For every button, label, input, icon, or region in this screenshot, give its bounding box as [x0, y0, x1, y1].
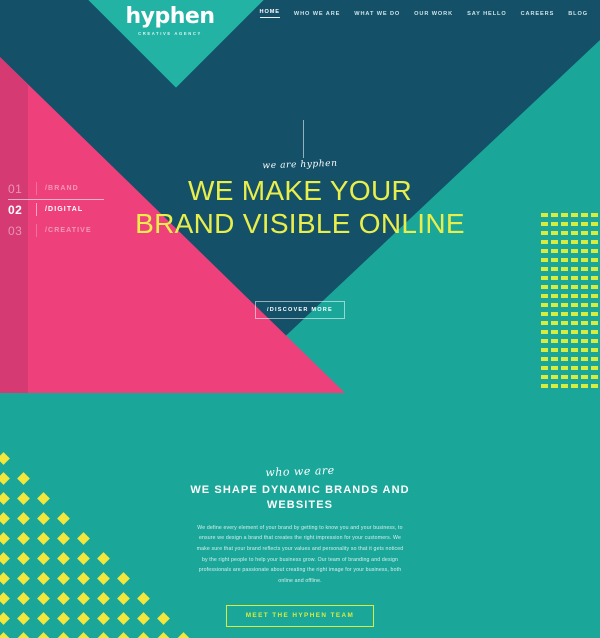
dash-cell [551, 366, 558, 370]
dash-cell [551, 357, 558, 361]
dash-cell [551, 240, 558, 244]
dash-cell [571, 321, 578, 325]
dash-cell [541, 357, 548, 361]
dash-cell [541, 384, 548, 388]
dash-cell [541, 375, 548, 379]
slide-active-rule [8, 199, 104, 200]
dash-cell [571, 303, 578, 307]
slide-label: /CREATIVE [45, 227, 92, 234]
dash-cell [561, 267, 568, 271]
dash-cell [561, 366, 568, 370]
nav-item-who-we-are[interactable]: WHO WE ARE [294, 11, 340, 17]
dash-cell [581, 285, 588, 289]
dash-cell [571, 294, 578, 298]
diamond-cell [177, 632, 190, 638]
dash-cell [561, 303, 568, 307]
dash-cell [581, 312, 588, 316]
dash-cell [541, 258, 548, 262]
about-body-text: We define every element of your brand by… [194, 523, 406, 587]
dash-cell [571, 240, 578, 244]
dash-cell [561, 285, 568, 289]
dash-cell [541, 240, 548, 244]
dash-cell [591, 276, 598, 280]
dash-cell [561, 276, 568, 280]
dash-cell [561, 384, 568, 388]
dash-cell [551, 285, 558, 289]
nav-item-what-we-do[interactable]: WHAT WE DO [354, 11, 400, 17]
dash-cell [591, 267, 598, 271]
dash-cell [561, 258, 568, 262]
slide-item-creative[interactable]: 03/CREATIVE [8, 220, 118, 241]
nav-item-home[interactable]: HOME [260, 9, 280, 18]
dash-cell [581, 222, 588, 226]
about-content: who we are WE SHAPE DYNAMIC BRANDS AND W… [0, 393, 600, 627]
dash-cell [581, 213, 588, 217]
landing-page: hyphen CREATIVE AGENCY HOMEWHO WE AREWHA… [0, 0, 600, 638]
dash-cell [571, 276, 578, 280]
hero-section: hyphen CREATIVE AGENCY HOMEWHO WE AREWHA… [0, 0, 600, 393]
dash-cell [591, 294, 598, 298]
dash-cell [591, 249, 598, 253]
dash-cell [541, 303, 548, 307]
dash-cell [561, 240, 568, 244]
dash-cell [541, 348, 548, 352]
nav-item-say-hello[interactable]: SAY HELLO [467, 11, 507, 17]
nav-item-blog[interactable]: BLOG [568, 11, 588, 17]
nav-item-careers[interactable]: CAREERS [521, 11, 555, 17]
dash-cell [581, 321, 588, 325]
dash-cell [581, 276, 588, 280]
dash-cell [581, 366, 588, 370]
dash-cell [571, 249, 578, 253]
dash-cell [541, 267, 548, 271]
dash-cell [571, 384, 578, 388]
dash-cell [571, 366, 578, 370]
diamond-cell [157, 632, 170, 638]
dash-cell [561, 321, 568, 325]
dash-cell [541, 213, 548, 217]
dash-cell [561, 231, 568, 235]
slide-divider [36, 203, 37, 216]
dash-cell [561, 213, 568, 217]
diamond-cell [97, 632, 110, 638]
slide-item-brand[interactable]: 01/BRAND [8, 178, 118, 199]
diamond-cell [117, 632, 130, 638]
dash-cell [581, 330, 588, 334]
slide-label: /BRAND [45, 185, 79, 192]
dash-cell [541, 285, 548, 289]
dash-cell [591, 213, 598, 217]
dash-cell [591, 339, 598, 343]
dash-cell [551, 303, 558, 307]
dash-cell [571, 285, 578, 289]
main-nav[interactable]: HOMEWHO WE AREWHAT WE DOOUR WORKSAY HELL… [260, 9, 589, 18]
dash-cell [591, 375, 598, 379]
dash-cell [541, 276, 548, 280]
about-title-line2: WEBSITES [0, 498, 600, 513]
dash-cell [551, 213, 558, 217]
dash-cell [551, 231, 558, 235]
dash-cell [561, 339, 568, 343]
dash-cell [571, 213, 578, 217]
dash-cell [561, 312, 568, 316]
dash-cell [581, 348, 588, 352]
dash-cell [571, 258, 578, 262]
dash-cell [581, 294, 588, 298]
dash-cell [551, 222, 558, 226]
dash-cell [551, 330, 558, 334]
dash-cell [591, 348, 598, 352]
slide-indicator-list[interactable]: 01/BRAND02/DIGITAL03/CREATIVE [8, 178, 118, 241]
logo-tagline: CREATIVE AGENCY [122, 31, 218, 36]
dash-cell [581, 267, 588, 271]
dash-cell [551, 267, 558, 271]
dash-cell [551, 321, 558, 325]
slide-divider [36, 224, 37, 237]
dash-cell [591, 303, 598, 307]
dash-cell [571, 348, 578, 352]
dash-cell [581, 240, 588, 244]
dash-cell [551, 294, 558, 298]
dash-cell [591, 240, 598, 244]
dash-cell [591, 285, 598, 289]
dash-cell [551, 312, 558, 316]
dash-cell [551, 384, 558, 388]
slide-item-digital[interactable]: 02/DIGITAL [8, 199, 118, 220]
dash-cell [541, 294, 548, 298]
diamond-cell [37, 632, 50, 638]
dash-cell [581, 303, 588, 307]
dash-cell [571, 330, 578, 334]
about-title: WE SHAPE DYNAMIC BRANDS AND WEBSITES [0, 483, 600, 513]
dash-cell [541, 339, 548, 343]
dash-cell [571, 267, 578, 271]
dash-cell [581, 258, 588, 262]
diamond-cell [77, 632, 90, 638]
dash-cell [571, 312, 578, 316]
logo-wordmark: hyphen [122, 6, 218, 28]
nav-item-our-work[interactable]: OUR WORK [414, 11, 453, 17]
dash-cell [571, 231, 578, 235]
dash-cell [571, 222, 578, 226]
dash-cell [571, 339, 578, 343]
dash-pattern [541, 213, 600, 393]
dash-cell [591, 366, 598, 370]
about-section: who we are WE SHAPE DYNAMIC BRANDS AND W… [0, 393, 600, 638]
dash-cell [581, 249, 588, 253]
slide-divider [36, 182, 37, 195]
diamond-cell [57, 632, 70, 638]
dash-cell [541, 222, 548, 226]
diamond-cell [0, 632, 10, 638]
diamond-cell [137, 632, 150, 638]
site-logo[interactable]: hyphen CREATIVE AGENCY [122, 6, 218, 36]
dash-cell [561, 330, 568, 334]
dash-cell [551, 375, 558, 379]
meet-team-button[interactable]: MEET THE HYPHEN TEAM [226, 605, 374, 627]
dash-cell [541, 249, 548, 253]
dash-cell [581, 231, 588, 235]
dash-cell [541, 330, 548, 334]
dash-cell [551, 276, 558, 280]
slide-number: 01 [8, 182, 28, 196]
dash-cell [541, 231, 548, 235]
dash-cell [561, 357, 568, 361]
dash-cell [541, 366, 548, 370]
dash-cell [551, 339, 558, 343]
dash-cell [571, 357, 578, 361]
dash-cell [591, 258, 598, 262]
dash-cell [561, 222, 568, 226]
dash-cell [581, 384, 588, 388]
dash-cell [591, 357, 598, 361]
diamond-cell [17, 632, 30, 638]
dash-cell [541, 312, 548, 316]
dash-cell [561, 249, 568, 253]
dash-cell [591, 231, 598, 235]
dash-cell [591, 384, 598, 388]
slide-number: 03 [8, 224, 28, 238]
dash-cell [591, 312, 598, 316]
dash-cell [571, 375, 578, 379]
dash-cell [551, 348, 558, 352]
slide-label: /DIGITAL [45, 206, 83, 213]
dash-cell [581, 375, 588, 379]
dash-cell [581, 339, 588, 343]
dash-cell [561, 375, 568, 379]
discover-more-button[interactable]: /DISCOVER MORE [255, 301, 345, 319]
dash-cell [551, 258, 558, 262]
dash-cell [591, 321, 598, 325]
slide-number: 02 [8, 203, 28, 217]
dash-cell [561, 348, 568, 352]
dash-cell [591, 330, 598, 334]
dash-cell [591, 222, 598, 226]
dash-cell [581, 357, 588, 361]
dash-cell [551, 249, 558, 253]
dash-cell [561, 294, 568, 298]
dash-cell [541, 321, 548, 325]
